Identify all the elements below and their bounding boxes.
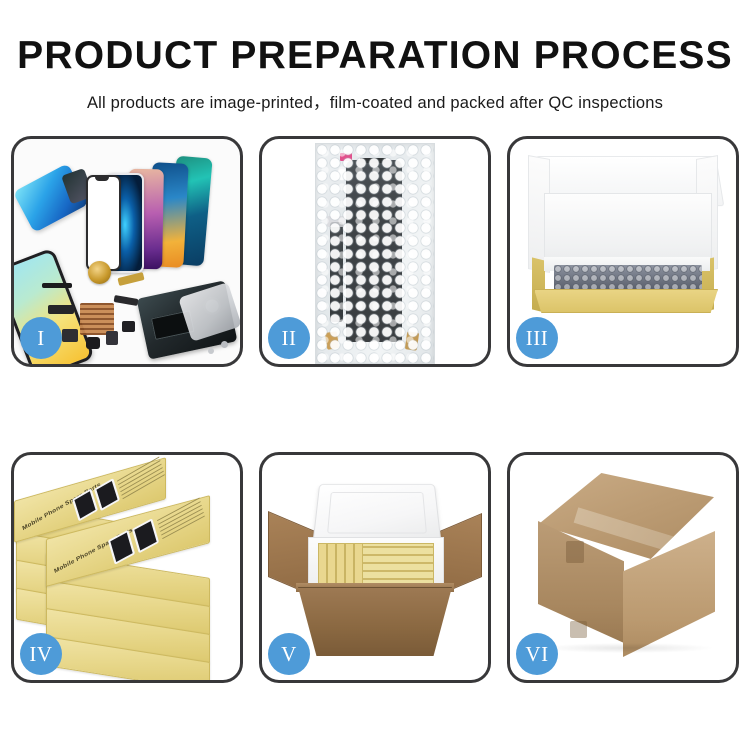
carton-shadow xyxy=(544,643,712,653)
phone-fan-group xyxy=(92,153,240,278)
step-panel-5: V xyxy=(259,452,491,683)
small-part-e-icon xyxy=(106,331,118,345)
step-badge-1: I xyxy=(20,317,62,359)
bubble-wrap-bag xyxy=(315,143,435,364)
small-part-a-icon xyxy=(48,305,74,314)
carton-flap-seam-lower-icon xyxy=(570,621,587,638)
process-steps-grid: I II xyxy=(11,136,739,682)
box-lid-spec-lines-rear xyxy=(117,457,165,500)
small-part-c-icon xyxy=(62,329,78,342)
carton-front-icon xyxy=(298,587,452,656)
header: PRODUCT PREPARATION PROCESS All products… xyxy=(0,0,750,113)
gold-coil-part-icon xyxy=(88,261,111,284)
screw-b-icon xyxy=(208,348,214,354)
page-title: PRODUCT PREPARATION PROCESS xyxy=(0,36,750,75)
carton-flap-seam-upper-icon xyxy=(566,541,584,563)
step-badge-3: III xyxy=(516,317,558,359)
flex-cable-part-icon xyxy=(42,283,72,288)
step-panel-3: III xyxy=(507,136,739,367)
packed-boxes-stack-icon xyxy=(362,543,434,587)
foam-lid-icon xyxy=(312,484,441,544)
product-preparation-infographic: PRODUCT PREPARATION PROCESS All products… xyxy=(0,0,750,750)
box-lid-spec-lines-front xyxy=(157,498,205,540)
step-panel-4: Mobile Phone Spare Parts Mobile Phone Sp… xyxy=(11,452,243,683)
small-part-f-icon xyxy=(122,321,135,332)
screw-a-icon xyxy=(221,341,228,348)
step-badge-4: IV xyxy=(20,633,62,675)
gray-bubble-wrap-icon xyxy=(554,265,702,293)
step-panel-2: II xyxy=(259,136,491,367)
page-subtitle: All products are image-printed，film-coat… xyxy=(0,89,750,113)
step-badge-2: II xyxy=(268,317,310,359)
box-lid-screen-print-front-a xyxy=(108,530,135,565)
step-panel-6: VI xyxy=(507,452,739,683)
dark-flex-part-icon xyxy=(114,295,139,306)
phone-white-front-icon xyxy=(86,175,121,271)
tray-front-panel-icon xyxy=(534,289,718,313)
box-lid-screen-print-front-b xyxy=(132,518,159,553)
bubble-texture-secondary xyxy=(316,144,434,363)
step-panel-1: I xyxy=(11,136,243,367)
blue-screen-assembly-icon xyxy=(14,163,89,233)
step-badge-5: V xyxy=(268,633,310,675)
step-badge-6: VI xyxy=(516,633,558,675)
small-part-d-icon xyxy=(86,337,100,349)
